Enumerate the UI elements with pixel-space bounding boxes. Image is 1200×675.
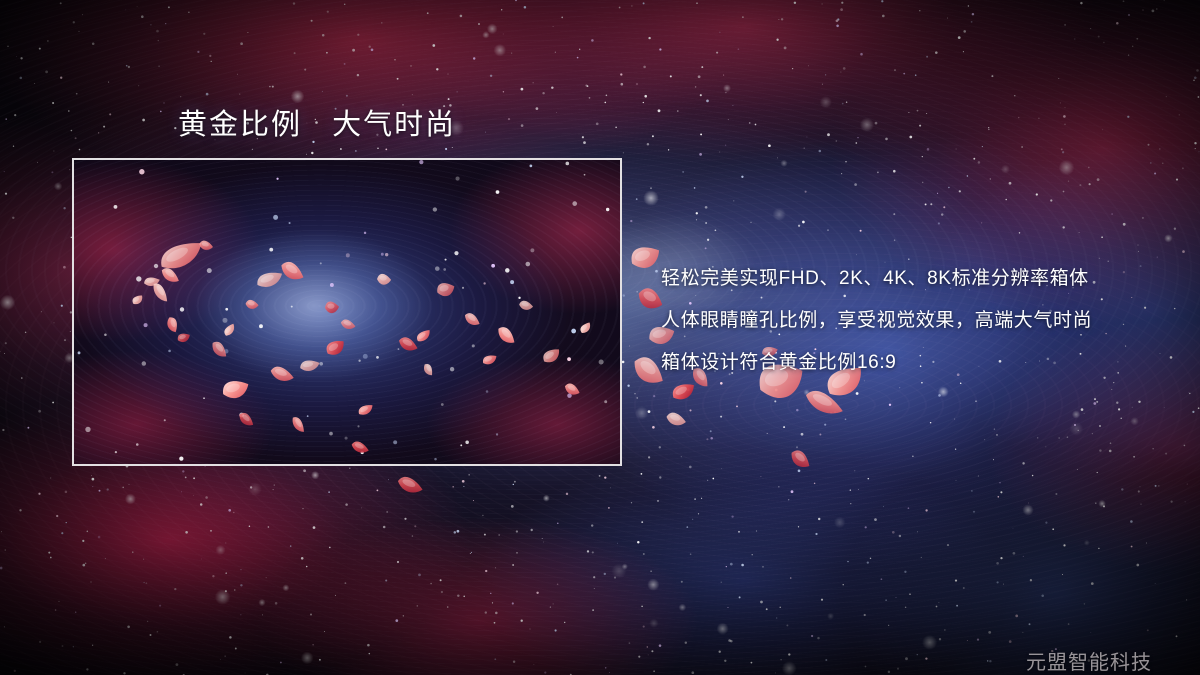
presentation-slide: 黄金比例 大气时尚 轻松完美实现FHD、2K、4K、8K标准分辨率箱体 人体眼睛… bbox=[0, 0, 1200, 675]
body-line-2: 人体眼睛瞳孔比例，享受视觉效果，高端大气时尚 bbox=[661, 300, 1171, 342]
photo-content bbox=[74, 160, 620, 464]
petal bbox=[788, 447, 814, 472]
body-line-3: 箱体设计符合黄金比例16:9 bbox=[661, 342, 1171, 384]
petal bbox=[803, 387, 847, 420]
petal bbox=[628, 241, 664, 272]
petal bbox=[665, 411, 688, 428]
body-text-block: 轻松完美实现FHD、2K、4K、8K标准分辨率箱体 人体眼睛瞳孔比例，享受视觉效… bbox=[661, 258, 1171, 384]
petal bbox=[396, 474, 425, 496]
body-line-1: 轻松完美实现FHD、2K、4K、8K标准分辨率箱体 bbox=[661, 258, 1171, 300]
slide-title: 黄金比例 大气时尚 bbox=[178, 101, 456, 143]
company-watermark: 元盟智能科技 bbox=[1026, 646, 1152, 675]
framed-photo[interactable] bbox=[72, 158, 622, 466]
photo-wisp-layer bbox=[74, 160, 620, 464]
